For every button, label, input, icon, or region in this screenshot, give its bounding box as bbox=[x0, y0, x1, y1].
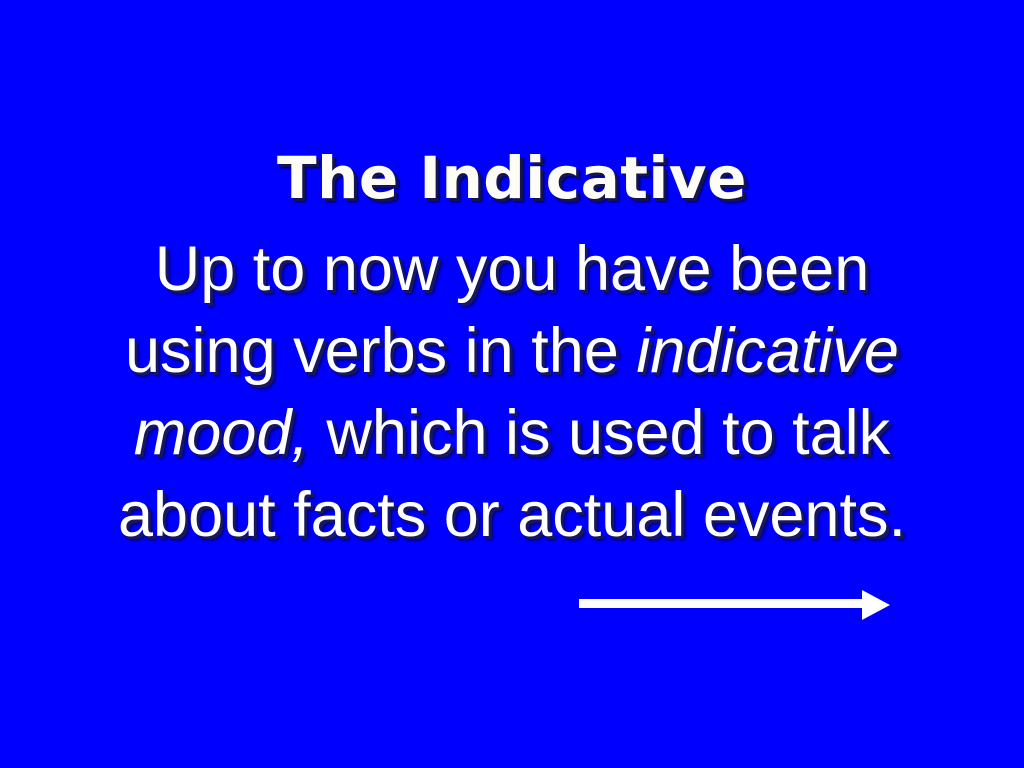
body-line-4-text: about facts or actual events. bbox=[118, 480, 906, 550]
body-line-3-italic-term: mood, bbox=[134, 398, 309, 468]
slide-body-text: Up to now you have been using verbs in t… bbox=[62, 228, 962, 556]
body-line-1: Up to now you have been bbox=[62, 228, 962, 310]
body-line-2-italic-term: indicative bbox=[636, 316, 899, 386]
body-line-3-normal-text: which is used to talk bbox=[309, 398, 890, 468]
body-line-2-normal-text: using verbs in the bbox=[125, 316, 636, 386]
right-arrow-icon bbox=[570, 580, 900, 630]
body-line-1-text: Up to now you have been bbox=[155, 234, 870, 304]
body-line-2: using verbs in the indicative bbox=[62, 310, 962, 392]
page-title: The Indicative bbox=[0, 143, 1024, 213]
right-arrow-graphic bbox=[570, 580, 900, 630]
body-line-3: mood, which is used to talk bbox=[62, 392, 962, 474]
presentation-slide: The Indicative Up to now you have been u… bbox=[0, 0, 1024, 768]
body-line-4: about facts or actual events. bbox=[62, 474, 962, 556]
